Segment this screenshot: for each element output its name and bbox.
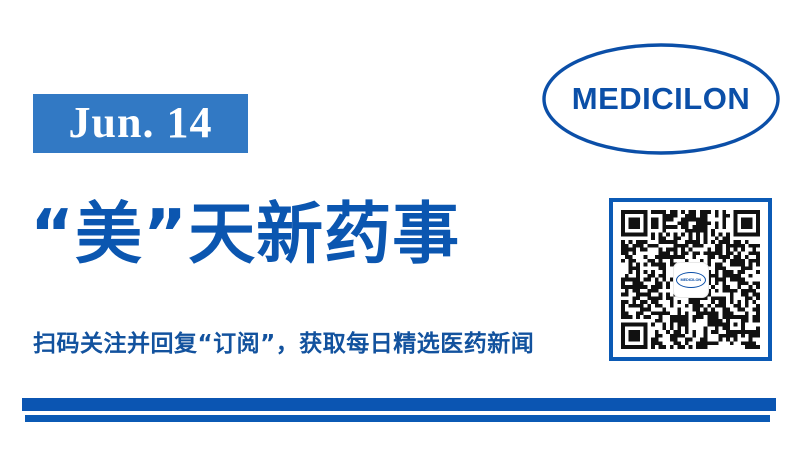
logo-wordmark: MEDICILON	[541, 41, 781, 157]
page-subtitle: 扫码关注并回复“订阅”，获取每日精选医药新闻	[33, 327, 593, 361]
date-badge: Jun. 14	[33, 94, 248, 153]
qr-logo-ellipse-icon: MEDICILON	[676, 272, 706, 288]
qr-logo-wordmark: MEDICILON	[680, 277, 700, 282]
date-badge-label: Jun. 14	[69, 101, 213, 145]
footer-rule-secondary	[25, 415, 770, 422]
footer-rule-primary	[22, 398, 776, 411]
qr-code-image[interactable]: MEDICILON	[621, 210, 760, 349]
medicilon-logo: MEDICILON	[541, 41, 781, 157]
poster-canvas: MEDICILON Jun. 14 “美”天新药事 扫码关注并回复“订阅”，获取…	[0, 0, 800, 468]
qr-code-frame[interactable]: MEDICILON	[609, 198, 772, 361]
qr-center-logo: MEDICILON	[674, 263, 708, 297]
page-title: “美”天新药事	[30, 186, 590, 282]
